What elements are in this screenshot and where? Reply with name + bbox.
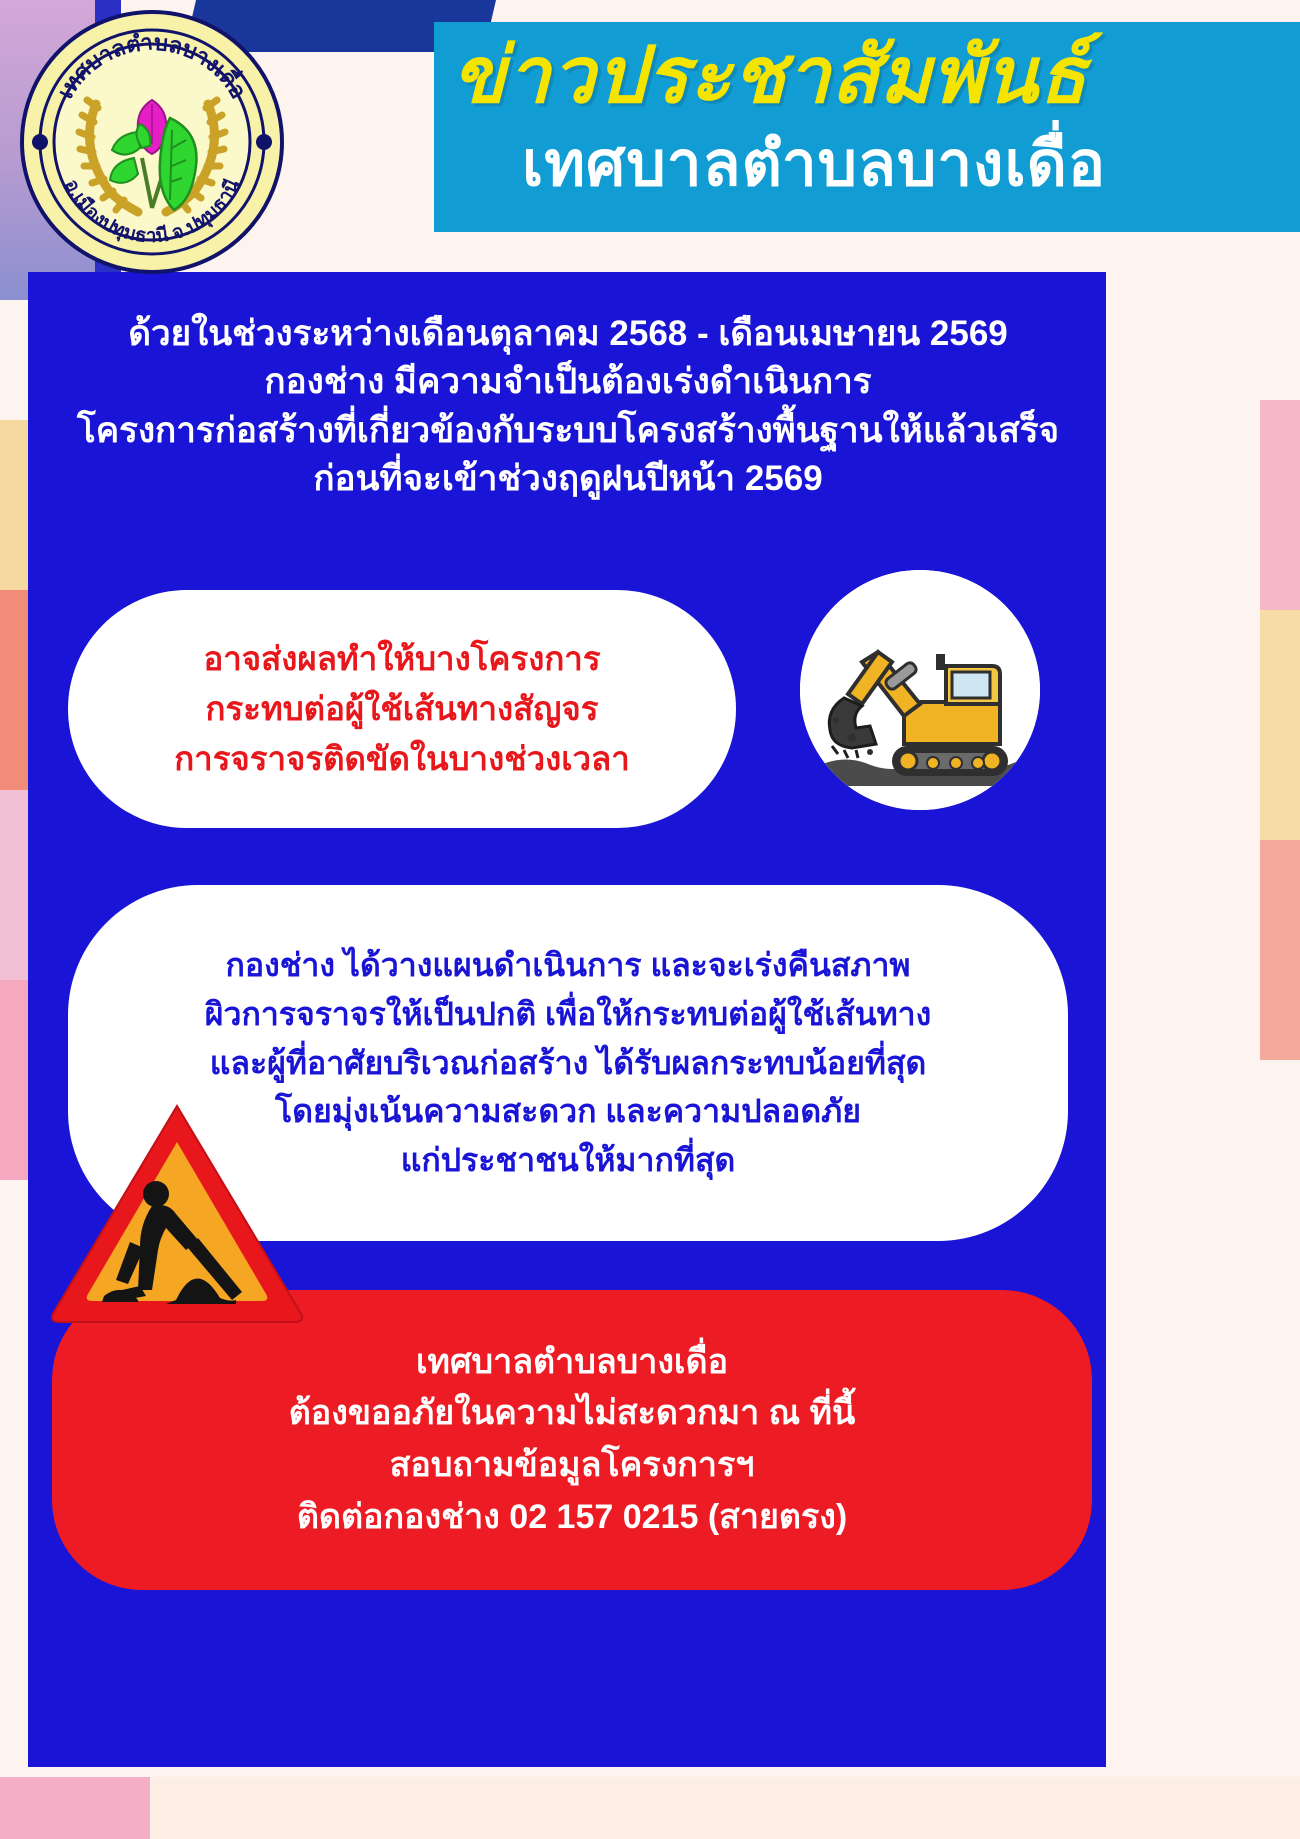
plan-line-4: โดยมุ่งเน้นความสะดวก และความปลอดภัย [275,1087,861,1136]
roadwork-warning-sign-icon [48,1098,306,1326]
intro-line-2: กองช่าง มีความจำเป็นต้องเร่งดำเนินการ [40,358,1096,406]
announcement-poster: ข่าวประชาสัมพันธ์ เทศบาลตำบลบางเดื่อ [0,0,1300,1839]
plan-line-1: กองช่าง ได้วางแผนดำเนินการ และจะเร่งคืนส… [225,941,910,990]
intro-line-4: ก่อนที่จะเข้าช่วงฤดูฝนปีหน้า 2569 [40,455,1096,503]
header-title-news: ข่าวประชาสัมพันธ์ [452,36,1300,114]
footer-phone-line: ติดต่อกองช่าง 02 157 0215 (สายตรง) [297,1492,847,1544]
alert-line-1: อาจส่งผลทำให้บางโครงการ [203,634,600,684]
alert-line-3: การจราจรติดขัดในบางช่วงเวลา [174,734,630,784]
plan-line-5: แก่ประชาชนให้มากที่สุด [401,1136,736,1185]
alert-line-2: กระทบต่อผู้ใช้เส้นทางสัญจร [206,684,599,734]
municipality-seal-logo: เทศบาลตำบลบางเดื่อ อ.เมืองปทุมธานี จ.ปทุ… [18,8,286,276]
intro-paragraph: ด้วยในช่วงระหว่างเดือนตุลาคม 2568 - เดือ… [40,310,1096,503]
traffic-impact-alert-box: อาจส่งผลทำให้บางโครงการ กระทบต่อผู้ใช้เส… [68,590,736,828]
intro-line-1: ด้วยในช่วงระหว่างเดือนตุลาคม 2568 - เดือ… [40,310,1096,358]
plan-line-3: และผู้ที่อาศัยบริเวณก่อสร้าง ได้รับผลกระ… [210,1039,927,1088]
excavator-icon [800,570,1040,810]
bottom-cream-band [0,1777,1300,1839]
bottom-pink-block [0,1777,150,1839]
footer-line-1: เทศบาลตำบลบางเดื่อ [416,1337,728,1389]
header-title-organization: เทศบาลตำบลบางเดื่อ [522,132,1300,197]
plan-line-2: ผิวการจราจรให้เป็นปกติ เพื่อให้กระทบต่อผ… [205,990,932,1039]
intro-line-3: โครงการก่อสร้างที่เกี่ยวข้องกับระบบโครงส… [40,407,1096,455]
footer-line-2: ต้องขออภัยในความไม่สะดวกมา ณ ที่นี้ [289,1388,856,1440]
apology-contact-box: เทศบาลตำบลบางเดื่อ ต้องขออภัยในความไม่สะ… [52,1290,1092,1590]
right-color-stripes [1238,400,1300,1300]
footer-line-3: สอบถามข้อมูลโครงการฯ [390,1440,755,1492]
